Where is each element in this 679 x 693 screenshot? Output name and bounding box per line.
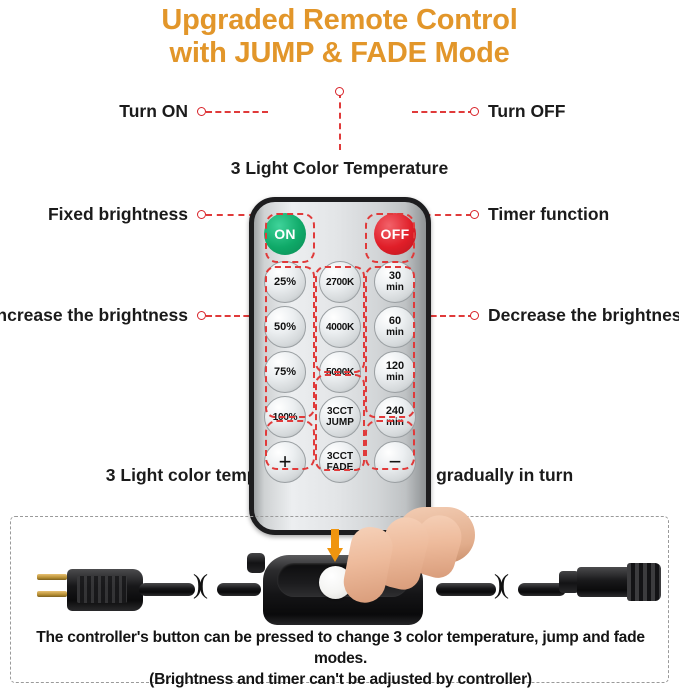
node-dot-cct-top: [335, 87, 344, 96]
brightness-50-button[interactable]: 50%: [264, 306, 306, 348]
timer-120min-unit: min: [386, 372, 404, 383]
plug-face-detail: [77, 576, 127, 603]
plug-prong-bottom-icon: [37, 591, 67, 597]
timer-120min-button[interactable]: 120 min: [374, 351, 416, 393]
timer-30min-value: 30: [389, 271, 401, 282]
title-line-2: with JUMP & FADE Mode: [0, 37, 679, 70]
mode-fade-line2: FADE: [327, 462, 354, 473]
remote-row-3: 75% 5000K 120 min: [264, 351, 416, 393]
controller-illustration: )( )(: [11, 517, 668, 625]
caption-color-temperature: 3 Light Color Temperature: [0, 158, 679, 179]
mode-fade-button[interactable]: 3CCT FADE: [319, 441, 361, 483]
remote-row-4: 100% 3CCT JUMP 240 min: [264, 396, 416, 438]
node-dot-increase-brightness: [197, 311, 206, 320]
us-power-plug: [67, 569, 143, 611]
remote-row-5: + 3CCT FADE −: [264, 441, 416, 483]
page-title: Upgraded Remote Control with JUMP & FADE…: [0, 0, 679, 70]
callout-turn-on-label: Turn ON: [119, 101, 188, 122]
callout-fixed-brightness-label: Fixed brightness: [48, 204, 188, 225]
cct-4000k-button[interactable]: 4000K: [319, 306, 361, 348]
callout-turn-on: Turn ON: [0, 101, 206, 122]
mode-jump-button[interactable]: 3CCT JUMP: [319, 396, 361, 438]
mode-jump-line1: 3CCT: [327, 406, 353, 417]
mode-jump-line2: JUMP: [326, 417, 354, 428]
connector-collar: [559, 571, 579, 593]
node-dot-fixed-brightness: [197, 210, 206, 219]
callout-turn-off: Turn OFF: [470, 101, 565, 122]
remote-row-power: ON OFF: [264, 213, 416, 255]
controller-caption-line1: The controller's button can be pressed t…: [11, 627, 670, 669]
node-dot-turn-off: [470, 107, 479, 116]
node-dot-timer-function: [470, 210, 479, 219]
row-spacer: [319, 213, 361, 255]
timer-30min-button[interactable]: 30 min: [374, 261, 416, 303]
callout-decrease-brightness-label: Decrease the brightness: [488, 305, 679, 326]
cable-break-right-icon: )(: [494, 571, 506, 598]
cable-left-a: [139, 583, 195, 596]
brightness-75-button[interactable]: 75%: [264, 351, 306, 393]
brightness-100-button[interactable]: 100%: [264, 396, 306, 438]
power-off-button[interactable]: OFF: [374, 213, 416, 255]
arrow-shaft: [331, 529, 339, 549]
press-down-arrow-icon: [327, 529, 342, 563]
power-on-button[interactable]: ON: [264, 213, 306, 255]
callout-increase-brightness-label: Increase the brightness: [0, 305, 188, 326]
leader-turn-on: [206, 111, 268, 113]
cable-left-b: [217, 583, 261, 596]
cct-5000k-button[interactable]: 5000K: [319, 351, 361, 393]
cable-break-left-icon: )(: [193, 571, 205, 598]
remote-row-2: 50% 4000K 60 min: [264, 306, 416, 348]
callout-turn-off-label: Turn OFF: [488, 101, 565, 122]
timer-60min-button[interactable]: 60 min: [374, 306, 416, 348]
title-line-1: Upgraded Remote Control: [0, 4, 679, 37]
timer-60min-unit: min: [386, 327, 404, 338]
controller-panel: )( )( The controller's button can be pre: [10, 516, 669, 683]
finger-index: [340, 524, 396, 607]
waterproof-connector-body: [577, 567, 631, 597]
timer-240min-value: 240: [386, 406, 404, 417]
callout-increase-brightness: Increase the brightness: [0, 305, 206, 326]
node-dot-turn-on: [197, 107, 206, 116]
remote-button-grid: ON OFF 25% 2700K 30 min 50% 4000K 60 min: [254, 202, 426, 486]
remote-control-body: ON OFF 25% 2700K 30 min 50% 4000K 60 min: [249, 197, 431, 535]
timer-120min-value: 120: [386, 361, 404, 372]
timer-30min-unit: min: [386, 282, 404, 293]
timer-60min-value: 60: [389, 316, 401, 327]
mode-fade-line1: 3CCT: [327, 451, 353, 462]
brightness-increase-button[interactable]: +: [264, 441, 306, 483]
callout-decrease-brightness: Decrease the brightness: [470, 305, 679, 326]
connector-threads: [627, 563, 661, 601]
leader-turn-off: [412, 111, 474, 113]
timer-240min-unit: min: [386, 417, 404, 428]
cable-right-a: [436, 583, 496, 596]
callout-timer-function-label: Timer function: [488, 204, 609, 225]
timer-240min-button[interactable]: 240 min: [374, 396, 416, 438]
node-dot-decrease-brightness: [470, 311, 479, 320]
cct-2700k-button[interactable]: 2700K: [319, 261, 361, 303]
brightness-25-button[interactable]: 25%: [264, 261, 306, 303]
remote-row-1: 25% 2700K 30 min: [264, 261, 416, 303]
callout-timer-function: Timer function: [470, 204, 609, 225]
leader-cct-top: [339, 92, 341, 150]
brightness-decrease-button[interactable]: −: [374, 441, 416, 483]
remote-diagram: 3 Light Color Temperature 3 Light color …: [0, 70, 679, 490]
callout-fixed-brightness: Fixed brightness: [0, 204, 206, 225]
controller-caption-line2: (Brightness and timer can't be adjusted …: [11, 669, 670, 690]
controller-caption: The controller's button can be pressed t…: [11, 627, 670, 690]
plug-prong-top-icon: [37, 574, 67, 580]
switch-strain-relief-left: [247, 553, 265, 573]
